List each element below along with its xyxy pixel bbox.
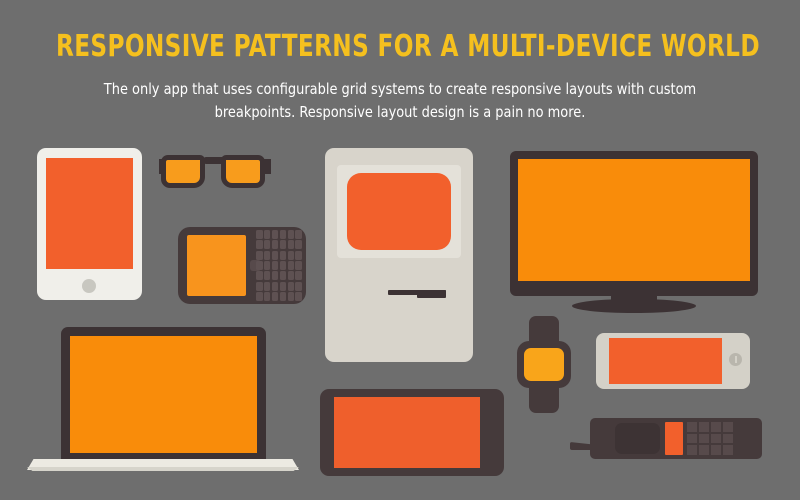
key bbox=[264, 251, 271, 260]
device-smartwatch bbox=[514, 316, 574, 413]
device-tablet-landscape bbox=[320, 389, 504, 476]
key bbox=[264, 292, 271, 301]
key bbox=[272, 230, 279, 239]
key bbox=[280, 292, 287, 301]
classic-computer-screen bbox=[347, 173, 451, 250]
key bbox=[687, 422, 697, 432]
key bbox=[711, 434, 721, 444]
key bbox=[723, 445, 733, 455]
key bbox=[256, 292, 263, 301]
key bbox=[256, 251, 263, 260]
key bbox=[288, 282, 295, 291]
device-television bbox=[510, 151, 758, 309]
key bbox=[272, 271, 279, 280]
key bbox=[288, 251, 295, 260]
page-title: Responsive Patterns for a Multi-Device W… bbox=[56, 30, 744, 64]
key bbox=[295, 240, 302, 249]
key bbox=[288, 230, 295, 239]
key bbox=[264, 230, 271, 239]
brick-phone-keypad bbox=[687, 422, 733, 455]
device-glasses bbox=[159, 152, 271, 200]
key bbox=[711, 445, 721, 455]
key bbox=[272, 282, 279, 291]
brick-phone-body bbox=[590, 418, 762, 459]
key bbox=[288, 261, 295, 270]
smartwatch-screen bbox=[524, 348, 564, 381]
key bbox=[295, 261, 302, 270]
key bbox=[288, 240, 295, 249]
key bbox=[256, 261, 263, 270]
key bbox=[256, 240, 263, 249]
device-laptop bbox=[27, 327, 299, 473]
glasses-temple-right bbox=[264, 159, 271, 174]
television-frame bbox=[510, 151, 758, 296]
key bbox=[264, 261, 271, 270]
device-keyboard-phone bbox=[178, 227, 306, 304]
page-subtitle: The only app that uses configurable grid… bbox=[84, 78, 716, 124]
laptop-base-lip bbox=[27, 467, 299, 471]
key bbox=[295, 251, 302, 260]
keyboard-phone-keypad bbox=[256, 230, 302, 301]
key bbox=[288, 292, 295, 301]
key bbox=[256, 282, 263, 291]
poster-canvas: Responsive Patterns for a Multi-Device W… bbox=[0, 0, 800, 500]
key bbox=[280, 251, 287, 260]
phone-landscape-screen bbox=[609, 338, 722, 384]
television-screen bbox=[518, 159, 750, 281]
tablet-portrait-home-button-icon bbox=[82, 279, 96, 293]
device-phone-landscape bbox=[596, 333, 750, 389]
key bbox=[256, 271, 263, 280]
keyboard-phone-screen bbox=[187, 235, 246, 296]
key bbox=[687, 445, 697, 455]
brick-phone-screen bbox=[665, 422, 683, 455]
phone-landscape-home-button-icon bbox=[729, 353, 742, 366]
key bbox=[723, 422, 733, 432]
key bbox=[699, 445, 709, 455]
key bbox=[280, 230, 287, 239]
key bbox=[295, 230, 302, 239]
key bbox=[699, 434, 709, 444]
key bbox=[264, 240, 271, 249]
glasses-lens-right bbox=[221, 155, 265, 188]
key bbox=[280, 240, 287, 249]
key bbox=[295, 271, 302, 280]
laptop-lid bbox=[61, 327, 266, 462]
key bbox=[272, 261, 279, 270]
key bbox=[280, 261, 287, 270]
tablet-portrait-screen bbox=[46, 158, 133, 269]
key bbox=[711, 422, 721, 432]
laptop-screen bbox=[70, 336, 257, 453]
key bbox=[295, 282, 302, 291]
key bbox=[280, 271, 287, 280]
key bbox=[723, 434, 733, 444]
key bbox=[256, 230, 263, 239]
device-brick-phone bbox=[570, 418, 762, 466]
key bbox=[280, 282, 287, 291]
device-classic-computer bbox=[325, 148, 473, 362]
classic-computer-bezel bbox=[337, 165, 461, 258]
classic-computer-floppy-slot-thick bbox=[417, 290, 446, 298]
tablet-landscape-screen bbox=[334, 397, 480, 468]
key bbox=[295, 292, 302, 301]
key bbox=[699, 422, 709, 432]
key bbox=[272, 240, 279, 249]
glasses-lens-left bbox=[161, 155, 205, 188]
key bbox=[687, 434, 697, 444]
key bbox=[288, 271, 295, 280]
key bbox=[264, 271, 271, 280]
key bbox=[272, 251, 279, 260]
brick-phone-earpiece bbox=[615, 423, 660, 454]
key bbox=[264, 282, 271, 291]
device-tablet-portrait bbox=[37, 148, 142, 300]
television-stand-base bbox=[572, 299, 696, 313]
home-button-mark bbox=[735, 356, 737, 363]
key bbox=[272, 292, 279, 301]
